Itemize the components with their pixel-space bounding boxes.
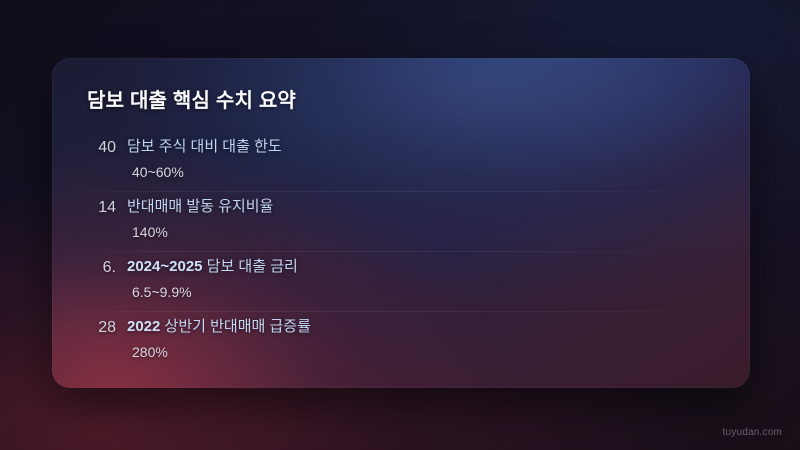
page-title: 담보 대출 핵심 수치 요약 (87, 84, 716, 113)
card-content: 담보 대출 핵심 수치 요약 40 담보 주식 대비 대출 한도 40~60% … (52, 58, 750, 388)
list-item: 6. 2024~2025 담보 대출 금리 6.5~9.9% (86, 251, 716, 311)
stat-label-text: 상반기 반대매매 급증률 (160, 318, 311, 335)
stat-value: 6.5~9.9% (132, 282, 298, 302)
stat-rank: 14 (86, 196, 116, 219)
stat-label: 2022 상반기 반대매매 급증률 (127, 316, 311, 338)
stat-list: 40 담보 주식 대비 대출 한도 40~60% 14 반대매매 발동 유지비율… (86, 131, 716, 371)
stat-body: 2022 상반기 반대매매 급증률 280% (127, 316, 311, 362)
list-item: 14 반대매매 발동 유지비율 140% (86, 191, 716, 251)
stat-value: 280% (132, 342, 311, 362)
stat-label-highlight: 2022 (127, 318, 160, 335)
watermark: tuyudan.com (723, 427, 782, 438)
list-item: 40 담보 주식 대비 대출 한도 40~60% (86, 131, 716, 191)
stat-label: 담보 주식 대비 대출 한도 (127, 136, 282, 158)
stat-rank: 40 (86, 136, 116, 159)
stat-body: 2024~2025 담보 대출 금리 6.5~9.9% (127, 256, 298, 302)
stat-value: 140% (132, 222, 273, 242)
list-item: 28 2022 상반기 반대매매 급증률 280% (86, 311, 716, 371)
summary-card: 담보 대출 핵심 수치 요약 40 담보 주식 대비 대출 한도 40~60% … (52, 58, 750, 388)
stat-label: 반대매매 발동 유지비율 (127, 196, 273, 218)
stat-value: 40~60% (132, 162, 282, 182)
stat-rank: 6. (86, 256, 116, 279)
stat-label-highlight: 2024~2025 (127, 258, 203, 275)
stat-rank: 28 (86, 316, 116, 339)
stat-label-text: 담보 주식 대비 대출 한도 (127, 138, 282, 155)
stat-label-text: 담보 대출 금리 (203, 258, 298, 275)
stat-body: 담보 주식 대비 대출 한도 40~60% (127, 136, 282, 182)
stat-body: 반대매매 발동 유지비율 140% (127, 196, 273, 242)
stat-label: 2024~2025 담보 대출 금리 (127, 256, 298, 278)
stat-label-text: 반대매매 발동 유지비율 (127, 198, 273, 215)
